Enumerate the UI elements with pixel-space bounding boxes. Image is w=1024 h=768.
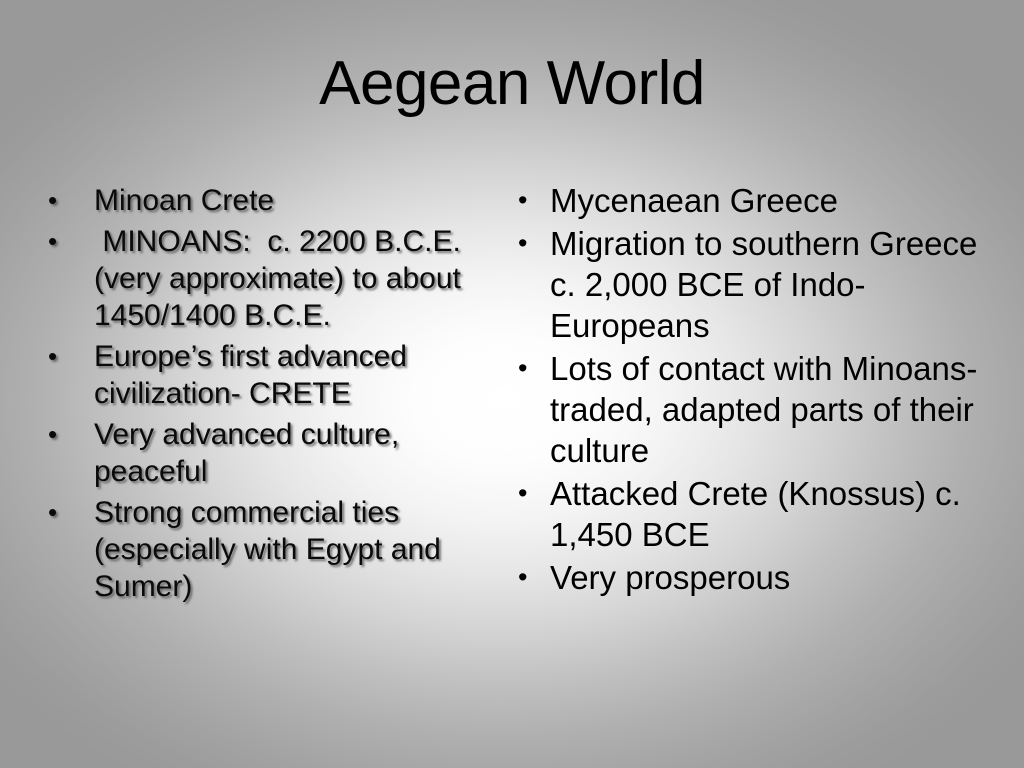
bullet-icon: • [518, 348, 550, 389]
slide-title: Aegean World [0, 48, 1024, 120]
list-item: • Very advanced culture, peaceful [48, 416, 480, 490]
list-item: • Lots of contact with Minoans- traded, … [518, 348, 988, 471]
list-item: • Strong commercial ties (especially wit… [48, 494, 480, 605]
list-item-text: Strong commercial ties (especially with … [94, 494, 480, 605]
list-item: • Minoan Crete [48, 182, 480, 219]
left-content-column: • Minoan Crete • MINOANS: c. 2200 B.C.E.… [48, 182, 480, 609]
list-item-text: Europe’s first advanced civilization- CR… [94, 338, 480, 412]
list-item: • Very prosperous [518, 557, 988, 598]
list-item-text: Migration to southern Greece c. 2,000 BC… [550, 223, 988, 346]
list-item-text: Lots of contact with Minoans- traded, ad… [550, 348, 988, 471]
presentation-slide: Aegean World • Minoan Crete • MINOANS: c… [0, 0, 1024, 768]
list-item: • MINOANS: c. 2200 B.C.E. (very approxim… [48, 223, 480, 334]
list-item: • Migration to southern Greece c. 2,000 … [518, 223, 988, 346]
list-item: • Mycenaean Greece [518, 180, 988, 221]
list-item-text: Very advanced culture, peaceful [94, 416, 480, 490]
list-item: • Europe’s first advanced civilization- … [48, 338, 480, 412]
bullet-icon: • [518, 180, 550, 221]
list-item-text: Attacked Crete (Knossus) c. 1,450 BCE [550, 473, 988, 555]
bullet-icon: • [48, 223, 94, 260]
bullet-icon: • [48, 416, 94, 453]
bullet-icon: • [518, 557, 550, 598]
bullet-icon: • [48, 182, 94, 219]
list-item-text: MINOANS: c. 2200 B.C.E. (very approximat… [94, 223, 480, 334]
list-item-text: Mycenaean Greece [550, 180, 988, 221]
list-item: • Attacked Crete (Knossus) c. 1,450 BCE [518, 473, 988, 555]
list-item-text: Minoan Crete [94, 182, 480, 219]
right-content-column: • Mycenaean Greece • Migration to southe… [518, 180, 988, 600]
bullet-icon: • [48, 338, 94, 375]
bullet-icon: • [518, 473, 550, 514]
bullet-icon: • [48, 494, 94, 531]
bullet-icon: • [518, 223, 550, 264]
list-item-text: Very prosperous [550, 557, 988, 598]
